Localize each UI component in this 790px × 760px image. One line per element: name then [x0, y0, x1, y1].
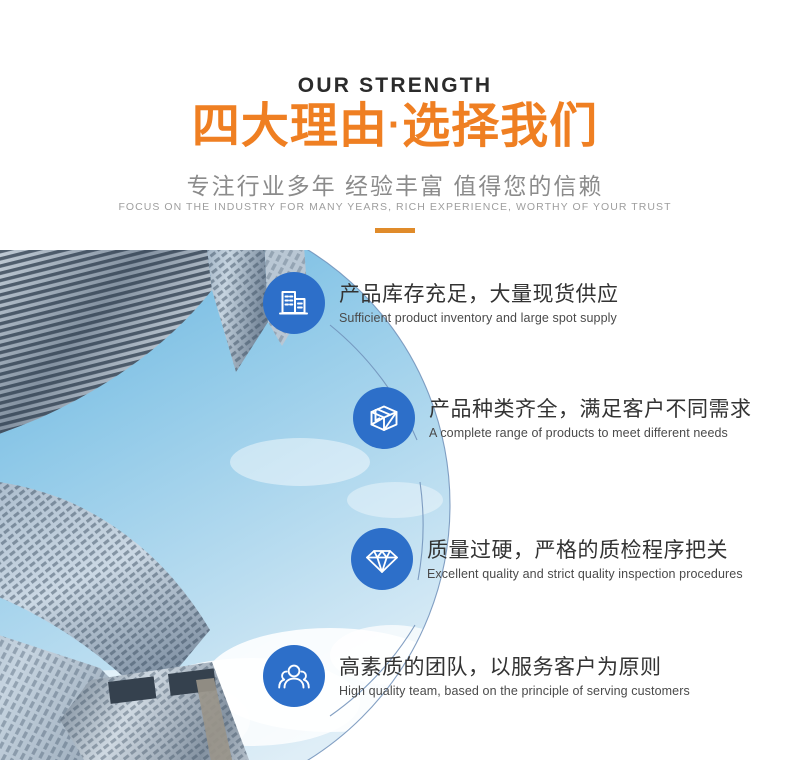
diamond-icon [351, 528, 413, 590]
feature-title-en: A complete range of products to meet dif… [429, 425, 752, 442]
feature-stage: 产品库存充足，大量现货供应 Sufficient product invento… [0, 250, 790, 760]
headline-right: 选择我们 [402, 100, 598, 153]
feature-title-en: Sufficient product inventory and large s… [339, 310, 619, 327]
feature-item-team[interactable]: 高素质的团队，以服务客户为原则 High quality team, based… [263, 645, 690, 707]
feature-text: 质量过硬，严格的质检程序把关 Excellent quality and str… [427, 536, 743, 583]
feature-item-inventory[interactable]: 产品库存充足，大量现货供应 Sufficient product invento… [263, 272, 619, 334]
feature-title-cn: 产品种类齐全，满足客户不同需求 [429, 397, 752, 423]
strength-banner: OUR STRENGTH 四大理由·选择我们 专注行业多年 经验丰富 值得您的信… [0, 0, 790, 760]
headline-left: 四大理由 [192, 100, 388, 153]
feature-text: 高素质的团队，以服务客户为原则 High quality team, based… [339, 653, 690, 700]
package-box-icon [353, 387, 415, 449]
feature-text: 产品种类齐全，满足客户不同需求 A complete range of prod… [429, 395, 752, 442]
tagline-english: FOCUS ON THE INDUSTRY FOR MANY YEARS, RI… [0, 201, 790, 213]
feature-item-quality[interactable]: 质量过硬，严格的质检程序把关 Excellent quality and str… [351, 528, 743, 590]
feature-title-en: High quality team, based on the principl… [339, 683, 690, 700]
team-people-icon [263, 645, 325, 707]
feature-text: 产品库存充足，大量现货供应 Sufficient product invento… [339, 280, 619, 327]
page-title: 四大理由·选择我们 [0, 99, 790, 153]
feature-title-cn: 产品库存充足，大量现货供应 [339, 282, 619, 308]
office-building-icon [263, 272, 325, 334]
feature-title-cn: 质量过硬，严格的质检程序把关 [427, 538, 743, 564]
tagline-chinese: 专注行业多年 经验丰富 值得您的信赖 [0, 167, 790, 201]
feature-title-cn: 高素质的团队，以服务客户为原则 [339, 655, 690, 681]
orange-divider [375, 228, 415, 233]
headline-separator-dot: · [388, 103, 402, 147]
eyebrow-text: OUR STRENGTH [0, 74, 790, 98]
feature-item-product-range[interactable]: 产品种类齐全，满足客户不同需求 A complete range of prod… [353, 387, 752, 449]
feature-title-en: Excellent quality and strict quality ins… [427, 566, 743, 583]
banner-header: OUR STRENGTH 四大理由·选择我们 专注行业多年 经验丰富 值得您的信… [0, 0, 790, 250]
